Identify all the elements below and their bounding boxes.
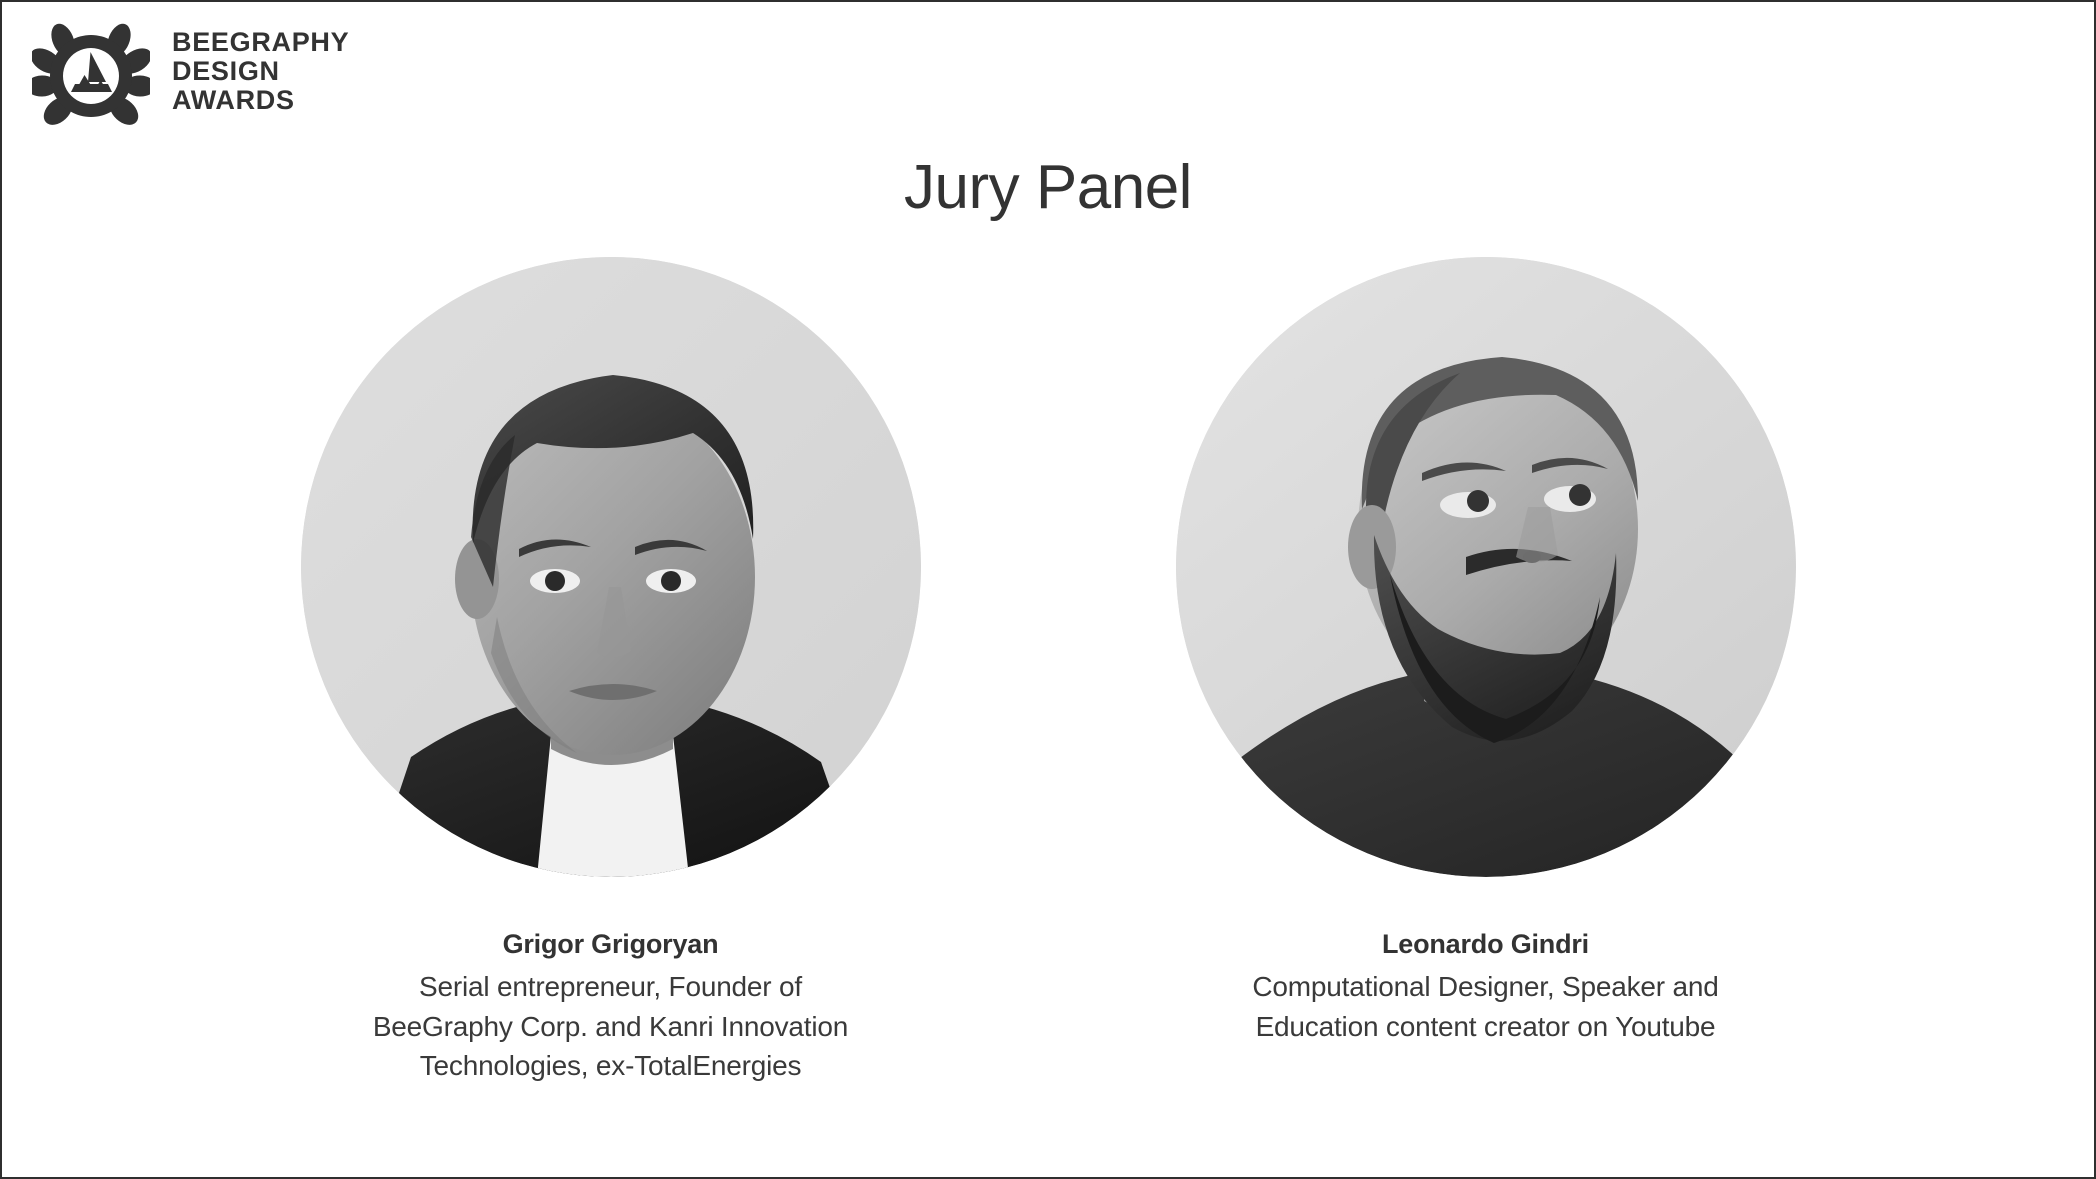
jury-member-info: Leonardo Gindri Computational Designer, … [1156,929,1816,1046]
laurel-wreath-logo-icon [32,18,150,130]
jury-member-role: Serial entrepreneur, Founder of BeeGraph… [281,967,941,1086]
jury-panel-slide: BEEGRAPHY DESIGN AWARDS Jury Panel [0,0,2096,1179]
jury-member-role: Computational Designer, Speaker and Educ… [1156,967,1816,1047]
page-title: Jury Panel [2,157,2094,219]
jury-member-photo [1176,257,1796,877]
brand-lockup: BEEGRAPHY DESIGN AWARDS [32,18,349,130]
jury-member-name: Grigor Grigoryan [281,929,941,961]
jury-member-card: Leonardo Gindri Computational Designer, … [1176,257,1796,1086]
jury-member-photo [301,257,921,877]
jury-member-grid: Grigor Grigoryan Serial entrepreneur, Fo… [2,257,2094,1086]
jury-member-card: Grigor Grigoryan Serial entrepreneur, Fo… [301,257,921,1086]
brand-wordmark: BEEGRAPHY DESIGN AWARDS [172,28,349,115]
jury-member-info: Grigor Grigoryan Serial entrepreneur, Fo… [281,929,941,1086]
jury-member-name: Leonardo Gindri [1156,929,1816,961]
